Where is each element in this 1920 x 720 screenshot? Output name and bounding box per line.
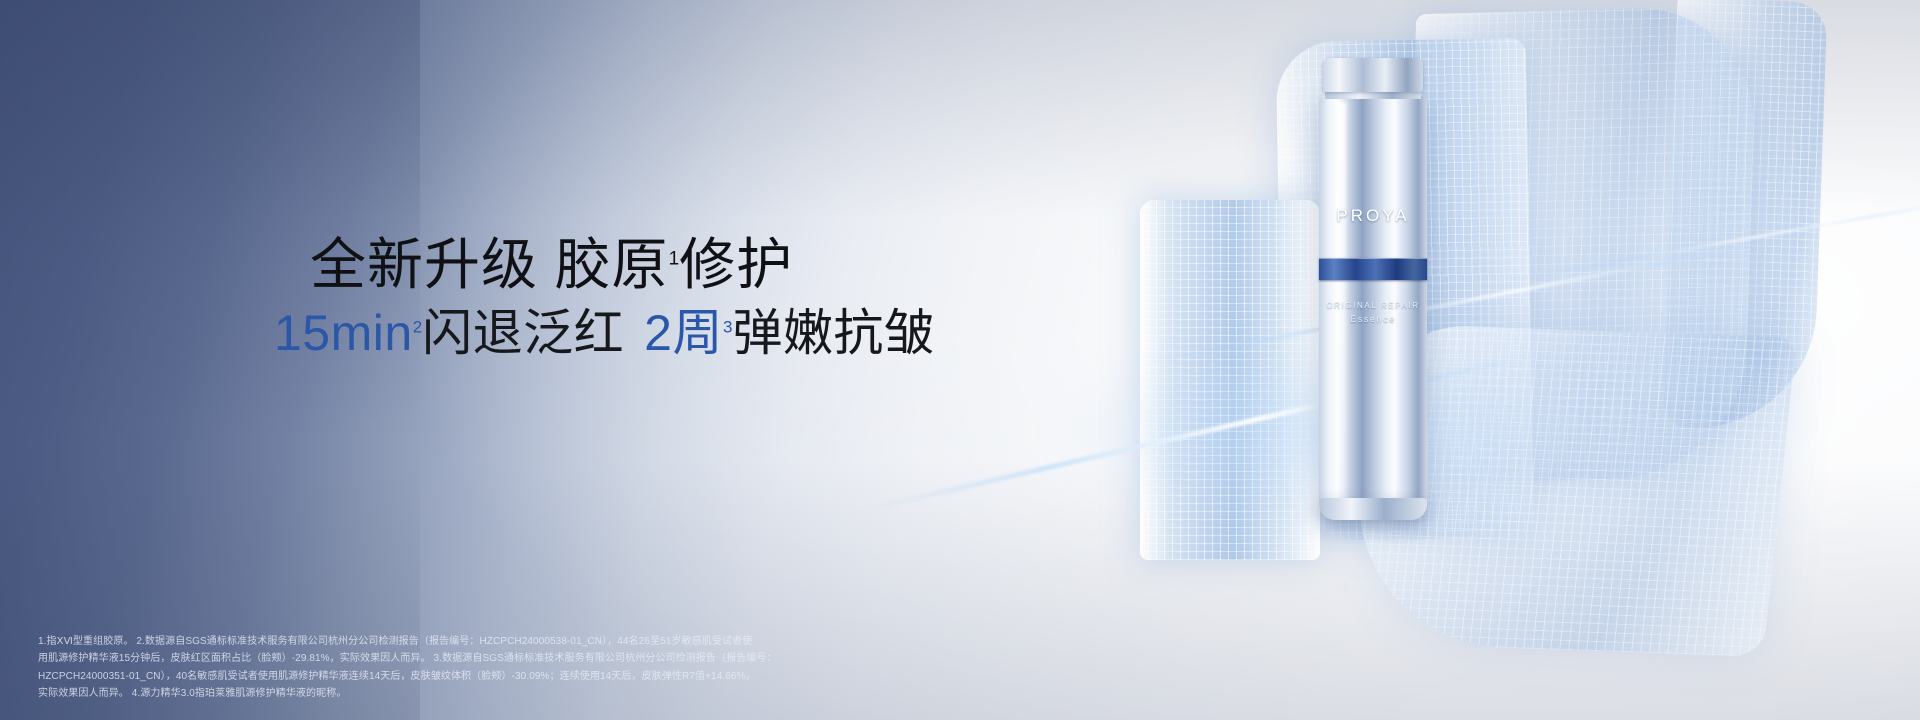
product-scene: PROYA ORIGINAL REPAIR Essence <box>980 0 1920 720</box>
headline-primary-text-b: 修护 <box>679 233 793 296</box>
footnote-line-2: 用肌源修护精华液15分钟后，皮肤红区面积占比（脸颊）-29.81%，实际效果因人… <box>38 650 938 667</box>
product-bottle: PROYA ORIGINAL REPAIR Essence <box>1313 58 1433 538</box>
footnotes-block: 1.指ⅩⅥ型重组胶原。 2.数据源自SGS通标标准技术服务有限公司杭州分公司检测… <box>38 633 938 702</box>
headline-block: 全新升级 胶原1修护 15min2闪退泛红2周3弹嫩抗皱 <box>310 236 934 360</box>
headline-footnote-marker-1: 1 <box>669 248 680 269</box>
bottle-label-line-2: Essence <box>1313 314 1433 324</box>
footnote-line-1: 1.指ⅩⅥ型重组胶原。 2.数据源自SGS通标标准技术服务有限公司杭州分公司检测… <box>38 633 938 650</box>
bottle-base <box>1319 498 1427 520</box>
promo-banner: PROYA ORIGINAL REPAIR Essence 全新升级 胶原1修护… <box>0 0 1920 720</box>
claim-2-value: 2周 <box>644 305 723 361</box>
footnote-line-3: HZCPCH24000351-01_CN），40名敏感肌受试者使用肌源修护精华液… <box>38 668 938 685</box>
bottle-brand-text: PROYA <box>1313 206 1433 226</box>
headline-footnote-marker-2: 2 <box>413 317 422 336</box>
claim-2-label: 弹嫩抗皱 <box>732 305 934 361</box>
headline-secondary: 15min2闪退泛红2周3弹嫩抗皱 <box>274 307 934 360</box>
bottle-cap <box>1323 58 1423 92</box>
bottle-accent-ring <box>1319 258 1427 280</box>
headline-primary: 全新升级 胶原1修护 <box>310 236 934 293</box>
glass-cylinder-left <box>1140 200 1320 560</box>
bottle-label-line-1: ORIGINAL REPAIR <box>1313 301 1433 310</box>
footnote-line-4: 实际效果因人而异。 4.源力精华3.0指珀莱雅肌源修护精华液的昵称。 <box>38 685 938 702</box>
claim-1-value: 15min <box>274 305 413 361</box>
headline-primary-text-a: 全新升级 胶原 <box>310 233 669 296</box>
claim-1-label: 闪退泛红 <box>422 305 624 361</box>
